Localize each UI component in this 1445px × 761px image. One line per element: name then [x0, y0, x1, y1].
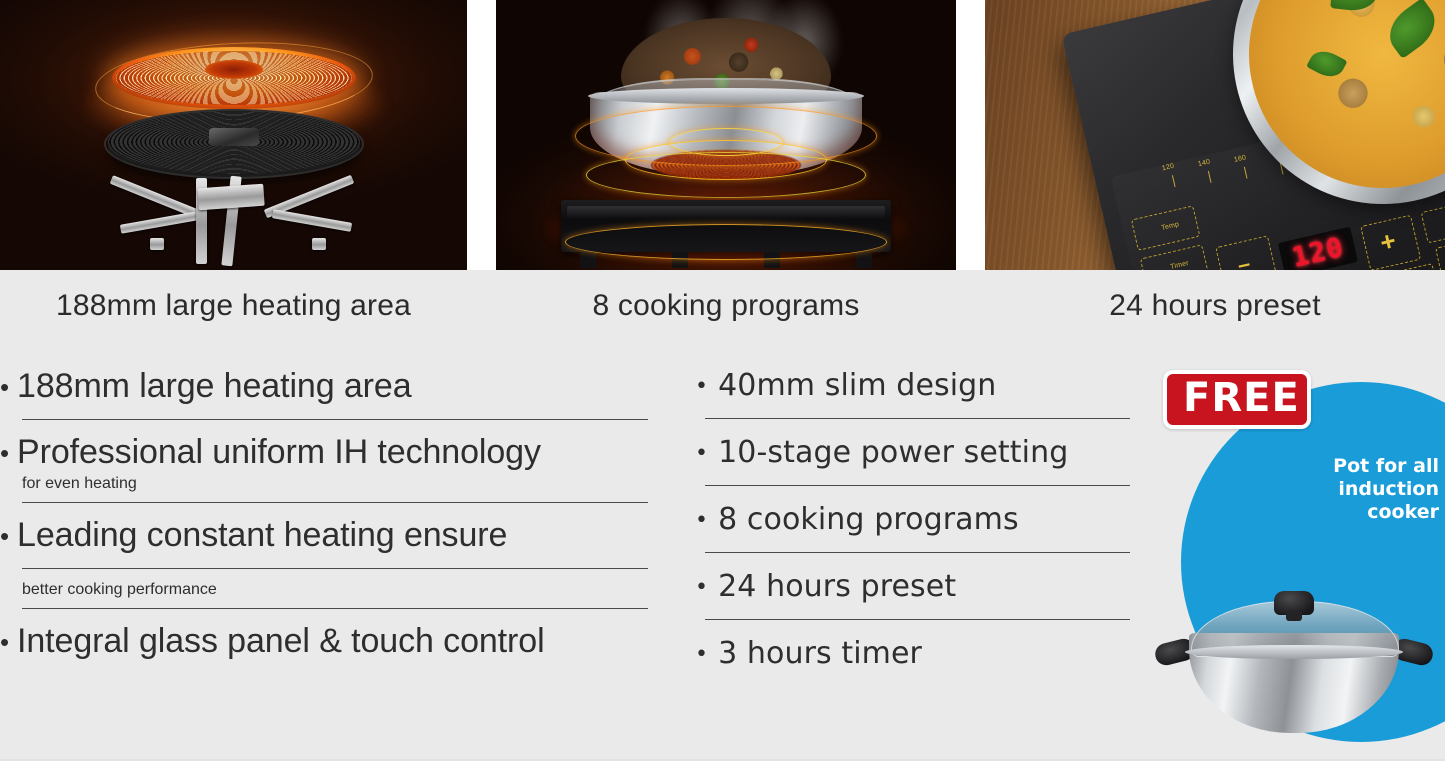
promo-description-line: Pot for all: [1239, 455, 1439, 478]
feature-text: 3 hours timer: [718, 634, 1150, 673]
feature-item: • 188mm large heating area: [0, 360, 670, 410]
feature-item: • 40mm slim design: [680, 360, 1150, 405]
feature-text: 10-stage power setting: [718, 433, 1150, 472]
bullet-icon: •: [695, 366, 708, 402]
feature-item: • Integral glass panel & touch control: [0, 609, 670, 665]
free-badge: FREE: [1163, 370, 1311, 429]
hero-image-row: 120 140 160 Temp Timer – 120 + Lock Keep: [0, 0, 1445, 270]
feature-list-left: • 188mm large heating area • Professiona…: [0, 360, 670, 664]
energy-ring: [586, 152, 866, 198]
feature-text: 24 hours preset: [718, 567, 1150, 606]
feature-item: • 24 hours preset: [680, 553, 1150, 606]
panel-tick: [1208, 171, 1212, 183]
promo-description: Pot for all induction cooker: [1239, 455, 1439, 523]
promo-description-line: cooker: [1239, 501, 1439, 524]
feature-text: Professional uniform IH technology: [17, 430, 670, 476]
feature-item: • Leading constant heating ensure: [0, 503, 670, 559]
energy-ring: [565, 224, 887, 260]
hero-image-coil: [0, 0, 467, 270]
feature-text: better cooking performance: [22, 581, 670, 599]
support-hub: [197, 184, 264, 211]
feature-item: • 3 hours timer: [680, 620, 1150, 673]
pot-lid-knob-stem: [1286, 611, 1302, 621]
hero-image-stew: [496, 0, 956, 270]
parsley-garnish: [1306, 45, 1347, 82]
scale-label: 120: [1161, 163, 1175, 173]
feature-text: Leading constant heating ensure: [17, 513, 670, 559]
coil-center-core: [205, 60, 263, 79]
parsley-garnish: [1330, 0, 1379, 13]
scale-label: 160: [1233, 154, 1247, 164]
hero-caption-row: 188mm large heating area 8 cooking progr…: [0, 270, 1445, 342]
pot-lid-rim: [1185, 645, 1403, 659]
hero-caption-programs: 8 cooking programs: [496, 270, 956, 342]
hero-caption-coil: 188mm large heating area: [0, 270, 467, 342]
feature-item: • Professional uniform IH technology for…: [0, 420, 670, 494]
feature-text: 40mm slim design: [718, 366, 1150, 405]
feature-list-right: • 40mm slim design • 10-stage power sett…: [680, 360, 1150, 673]
feature-item: better cooking performance: [0, 569, 670, 599]
led-display: 120: [1278, 227, 1358, 270]
bullet-icon: •: [695, 500, 708, 536]
feature-text-continued: for even heating: [22, 475, 670, 493]
free-pot-image: [1151, 589, 1437, 739]
bullet-icon: •: [0, 430, 9, 471]
hero-image-preset: 120 140 160 Temp Timer – 120 + Lock Keep: [985, 0, 1445, 270]
parsley-garnish: [1380, 0, 1444, 59]
feature-item: • 8 cooking programs: [680, 486, 1150, 539]
bullet-icon: •: [0, 364, 9, 405]
promo-description-line: induction: [1239, 478, 1439, 501]
free-badge-label: FREE: [1183, 379, 1300, 418]
hero-caption-preset: 24 hours preset: [985, 270, 1445, 342]
panel-tick: [1172, 175, 1176, 187]
pot-rim: [588, 88, 864, 104]
panel-tick: [1244, 167, 1248, 179]
bullet-icon: •: [0, 619, 9, 660]
scale-label: 140: [1197, 158, 1211, 168]
lock-button[interactable]: [1421, 199, 1445, 243]
support-leg: [312, 238, 326, 250]
bullet-icon: •: [695, 567, 708, 603]
feature-text: 8 cooking programs: [718, 500, 1150, 539]
bullet-icon: •: [695, 634, 708, 670]
feature-item: • 10-stage power setting: [680, 419, 1150, 472]
bullet-icon: •: [0, 513, 9, 554]
bullet-icon: •: [695, 433, 708, 469]
support-leg: [150, 238, 164, 250]
feature-text: Integral glass panel & touch control: [17, 619, 670, 665]
led-value: 120: [1289, 232, 1346, 270]
free-pot-promo: FREE Pot for all induction cooker: [1145, 360, 1445, 761]
black-coil-hub: [209, 128, 259, 146]
feature-text: 188mm large heating area: [17, 364, 670, 410]
